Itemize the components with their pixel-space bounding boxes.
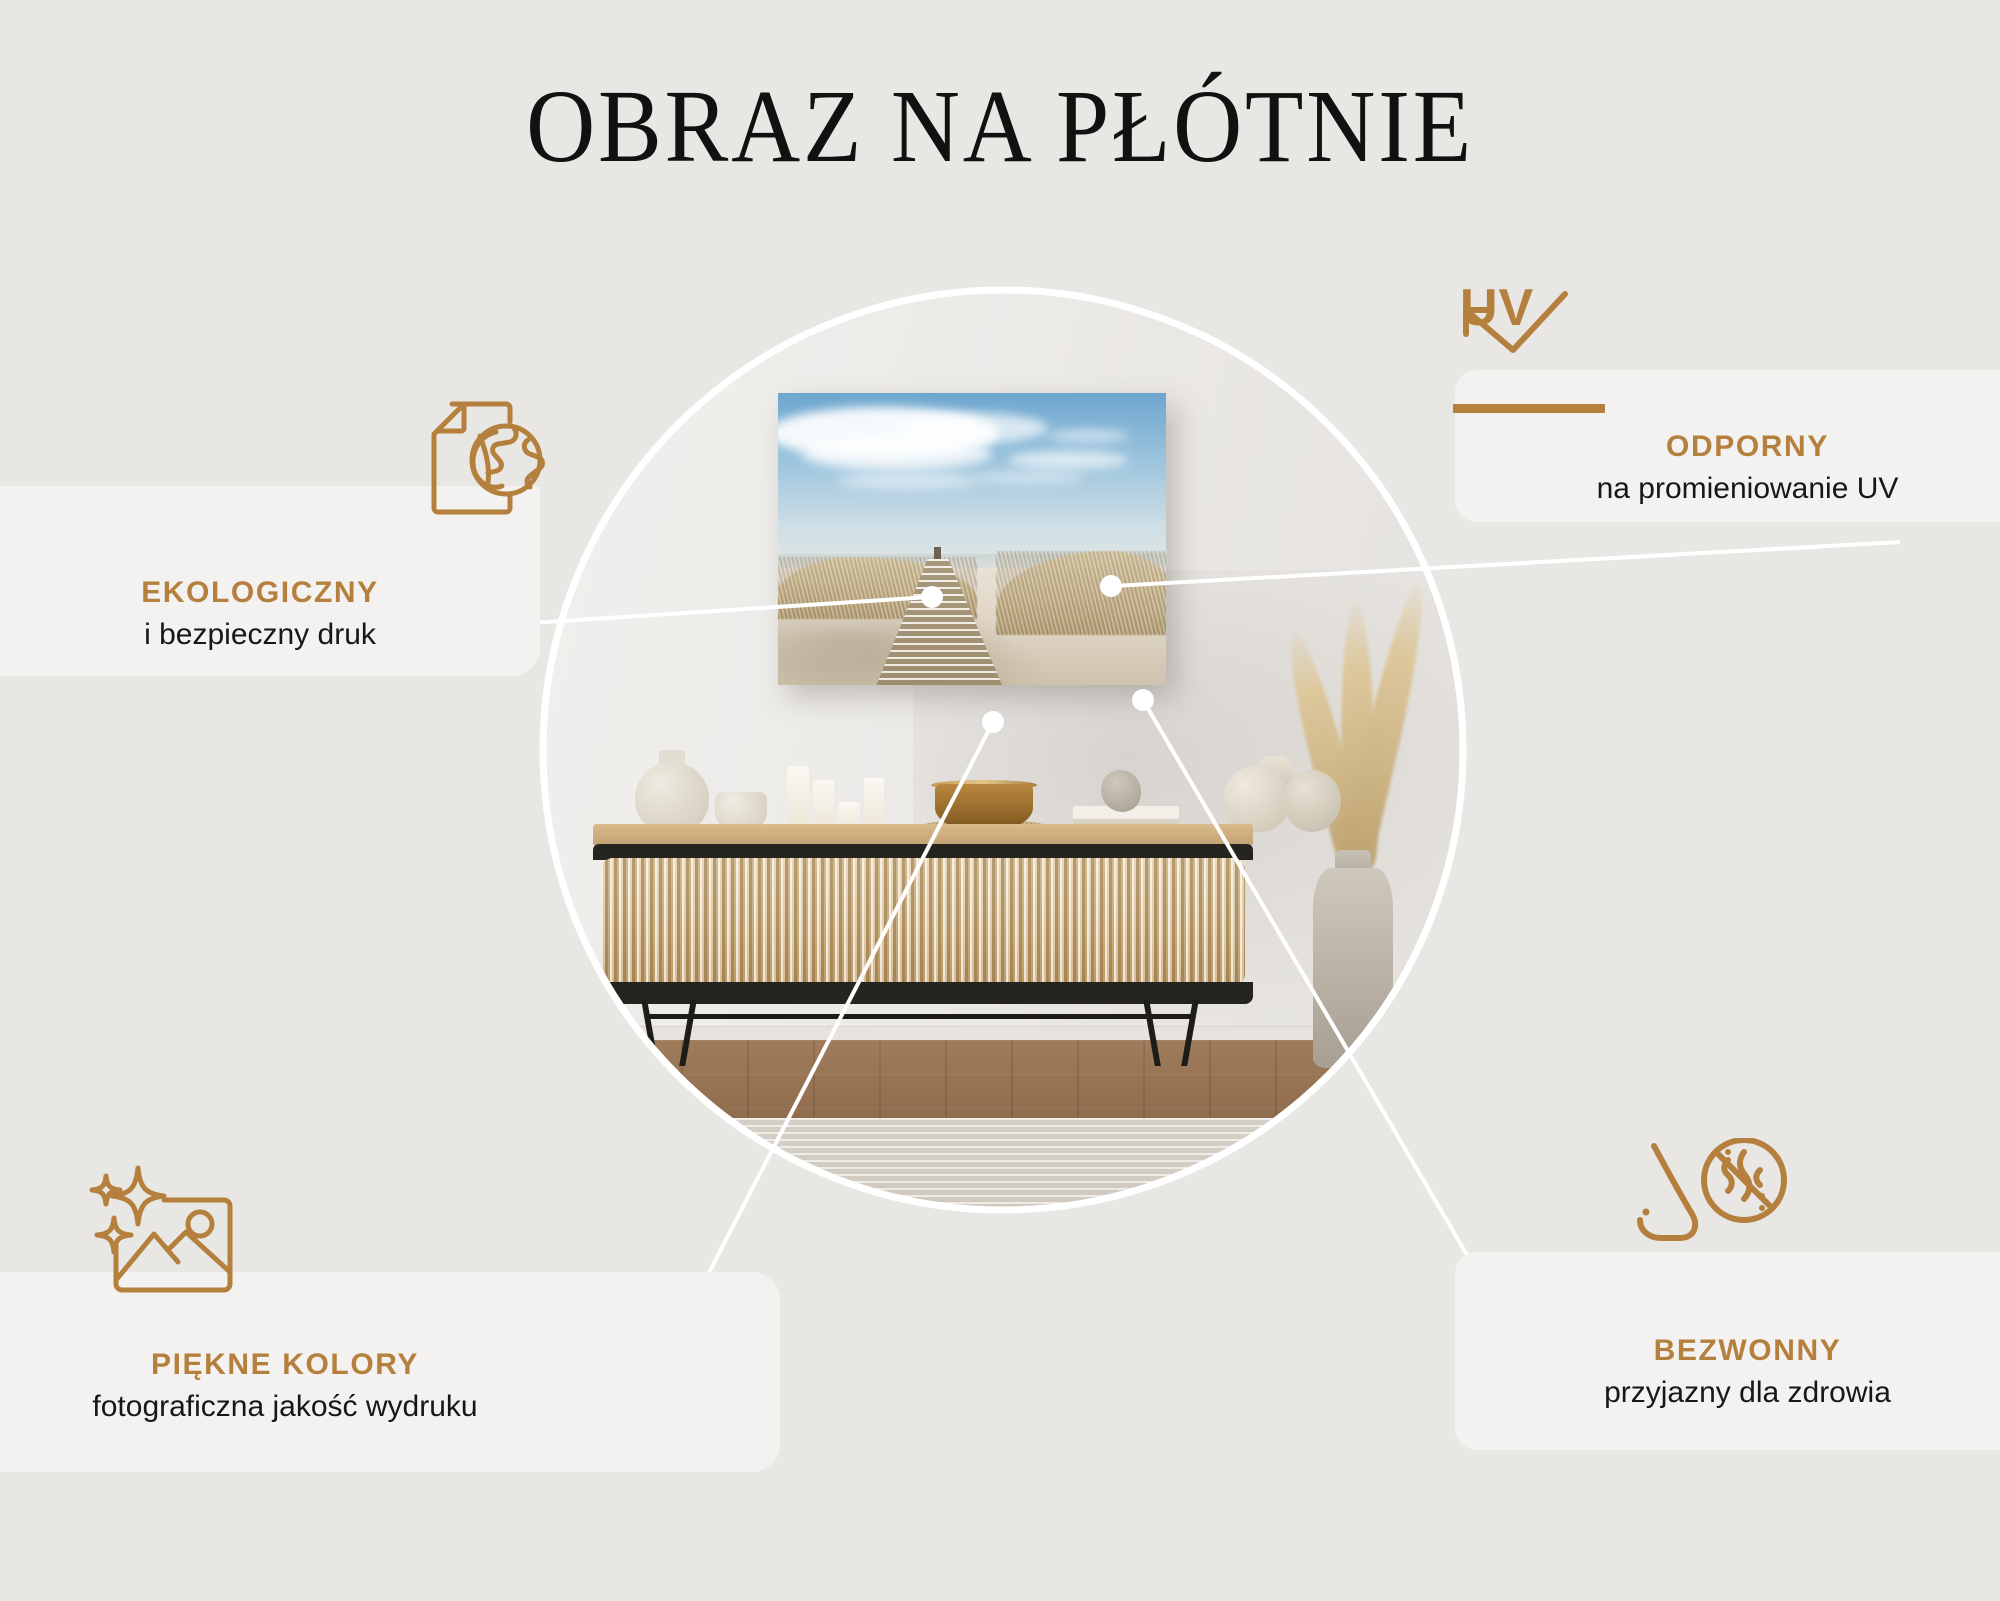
feature-subtitle-colors: fotograficzna jakość wydruku	[92, 1387, 477, 1426]
feature-subtitle-eco: i bezpieczny druk	[141, 615, 379, 654]
cloud	[974, 471, 1084, 484]
artwork-dune-grass-right	[996, 551, 1166, 635]
uv-surface-bar	[1453, 404, 1605, 413]
area-rug	[543, 1118, 1463, 1210]
decor-stone-sphere	[1101, 770, 1141, 812]
canvas-print-artwork	[778, 393, 1166, 685]
picture-sparkle-icon	[72, 1162, 240, 1304]
feature-title-uv: ODPORNY	[1597, 428, 1899, 466]
floor-vase	[1313, 868, 1393, 1068]
cloud	[1048, 429, 1128, 443]
feature-subtitle-odor: przyjazny dla zdrowia	[1604, 1373, 1891, 1412]
sideboard	[593, 824, 1253, 1022]
sideboard-top	[593, 824, 1253, 846]
sideboard-leg-bar	[647, 1014, 1193, 1019]
sideboard-fluted-doors	[601, 858, 1245, 986]
feature-title-colors: PIĘKNE KOLORY	[92, 1346, 477, 1384]
decor-vase-b	[1283, 770, 1341, 832]
wicker-basket	[543, 1088, 645, 1210]
infographic-root: OBRAZ NA PŁÓTNIE	[0, 0, 2000, 1601]
uv-ray-reflection-icon	[1450, 280, 1615, 380]
decor-vase-a	[1223, 766, 1289, 832]
nose-no-smell-icon	[1632, 1138, 1797, 1278]
cloud	[898, 413, 1048, 443]
feature-subtitle-uv: na promieniowanie UV	[1597, 469, 1899, 508]
cloud	[1008, 451, 1128, 469]
feature-panel-odor[interactable]: BEZWONNY przyjazny dla zdrowia	[1455, 1252, 2000, 1450]
feature-panel-uv[interactable]: ODPORNY na promieniowanie UV	[1455, 370, 2000, 522]
room-scene-circle	[543, 290, 1463, 1210]
page-title: OBRAZ NA PŁÓTNIE	[80, 72, 1920, 181]
room-scene	[543, 290, 1463, 1210]
eco-document-globe-leaf-icon	[418, 398, 558, 522]
decor-candle	[787, 766, 809, 832]
cloud	[838, 473, 978, 489]
feature-title-odor: BEZWONNY	[1604, 1332, 1891, 1370]
feature-title-eco: EKOLOGICZNY	[141, 574, 379, 612]
